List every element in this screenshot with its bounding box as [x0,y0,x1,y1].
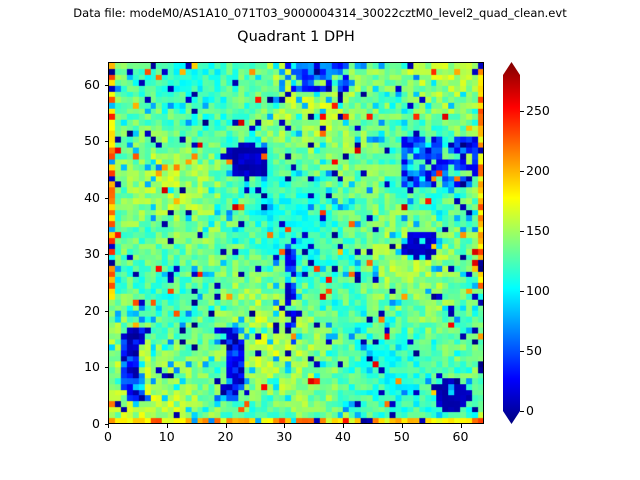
colorbar-tick-mark [520,111,524,112]
colorbar-tick-mark [520,171,524,172]
colorbar[interactable] [503,62,520,424]
colorbar-tick-mark [520,291,524,292]
colorbar-gradient [503,62,520,424]
x-tick-mark [108,424,109,428]
x-tick-mark [284,424,285,428]
x-tick-mark [461,424,462,428]
y-tick-label: 10 [58,359,100,374]
colorbar-body [503,62,520,424]
figure-suptitle: Data file: modeM0/AS1A10_071T03_90000043… [0,6,640,20]
y-tick-label: 40 [58,190,100,205]
x-tick-label: 50 [382,429,422,444]
y-tick-mark [105,367,109,368]
colorbar-tick-mark [520,411,524,412]
x-tick-mark [167,424,168,428]
colorbar-tick-mark [520,351,524,352]
y-tick-label: 60 [58,77,100,92]
colorbar-tick-label: 200 [526,163,550,178]
figure-canvas: Data file: modeM0/AS1A10_071T03_90000043… [0,0,640,480]
y-tick-mark [105,141,109,142]
colorbar-tick-label: 50 [526,343,542,358]
y-tick-mark [105,198,109,199]
x-tick-mark [226,424,227,428]
colorbar-tick-label: 150 [526,223,550,238]
y-tick-label: 30 [58,246,100,261]
colorbar-tick-label: 250 [526,103,550,118]
x-tick-label: 40 [323,429,363,444]
x-tick-mark [343,424,344,428]
page-title: Quadrant 1 DPH [108,29,484,45]
colorbar-tick-label: 0 [526,403,534,418]
y-tick-mark [105,254,109,255]
colorbar-tick-mark [520,231,524,232]
x-tick-label: 20 [206,429,246,444]
x-tick-label: 60 [441,429,481,444]
heatmap-axes[interactable] [108,62,484,424]
x-tick-label: 0 [88,429,128,444]
x-tick-label: 10 [147,429,187,444]
x-tick-label: 30 [264,429,304,444]
heatmap-image[interactable] [109,63,483,423]
y-tick-label: 50 [58,133,100,148]
y-tick-mark [105,85,109,86]
x-tick-mark [402,424,403,428]
colorbar-tick-label: 100 [526,283,550,298]
y-tick-mark [105,424,109,425]
y-tick-mark [105,311,109,312]
y-tick-label: 0 [58,416,100,431]
y-tick-label: 20 [58,303,100,318]
